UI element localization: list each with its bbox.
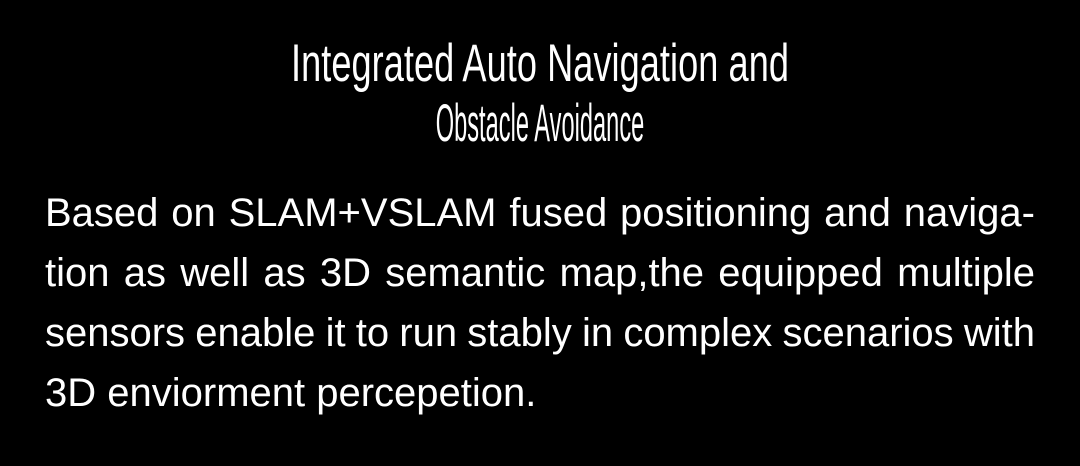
body-word: 3D xyxy=(320,243,371,303)
body-word: as xyxy=(124,243,166,303)
body-word: positioning xyxy=(620,183,811,243)
body-word: map,the xyxy=(560,243,705,303)
title-line-2: Obstacle Avoidance xyxy=(300,94,780,154)
body-word: in xyxy=(582,303,613,363)
body-word: equipped xyxy=(718,243,883,303)
body-line-3: sensorsenableittorunstablyincomplexscena… xyxy=(45,303,1035,363)
body-word: well xyxy=(180,243,249,303)
slide-root: Integrated Auto Navigation and Obstacle … xyxy=(0,0,1080,466)
body-word: multiple xyxy=(897,243,1035,303)
body-word: SLAM+VSLAM xyxy=(229,183,497,243)
body-word: sensors xyxy=(45,303,185,363)
slide-body: BasedonSLAM+VSLAMfusedpositioningandnavi… xyxy=(45,183,1035,423)
body-word: it xyxy=(326,303,346,363)
body-word: run xyxy=(399,303,457,363)
body-word: complex xyxy=(623,303,772,363)
body-word: and xyxy=(824,183,891,243)
body-word: Based xyxy=(45,183,158,243)
body-line-2: tionaswellas3Dsemanticmap,theequippedmul… xyxy=(45,243,1035,303)
body-word: semantic xyxy=(385,243,545,303)
body-word: stably xyxy=(467,303,572,363)
body-word: with xyxy=(964,303,1035,363)
body-word: enable xyxy=(195,303,315,363)
body-word: fused xyxy=(509,183,607,243)
body-line-4: 3D enviorment percepetion. xyxy=(45,363,1035,423)
title-line-1: Integrated Auto Navigation and xyxy=(172,34,908,94)
body-word: naviga- xyxy=(904,183,1035,243)
slide-title: Integrated Auto Navigation and Obstacle … xyxy=(0,34,1080,154)
body-line-1: BasedonSLAM+VSLAMfusedpositioningandnavi… xyxy=(45,183,1035,243)
body-word: scenarios xyxy=(782,303,953,363)
body-word: on xyxy=(171,183,216,243)
body-word: as xyxy=(263,243,305,303)
body-word: to xyxy=(356,303,389,363)
body-word: tion xyxy=(45,243,110,303)
